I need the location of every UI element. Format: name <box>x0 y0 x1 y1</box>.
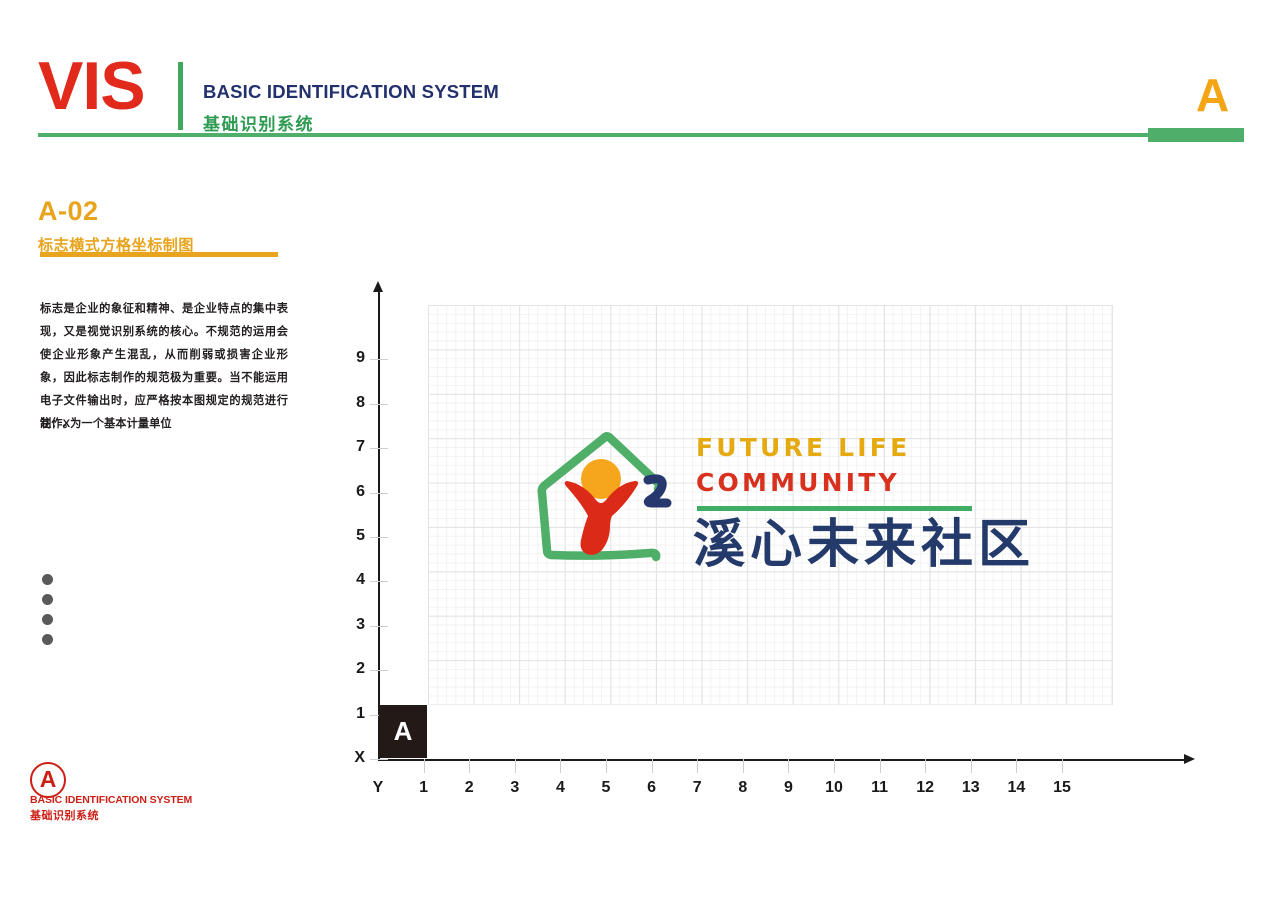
x-tick-label: 5 <box>586 779 626 797</box>
x-tick-label: Y <box>358 779 398 797</box>
y-tick-label: 9 <box>339 349 365 367</box>
y-tick-mark <box>370 404 388 405</box>
dot <box>42 634 53 645</box>
footer-title-cn: 基础识别系统 <box>30 807 99 823</box>
x-tick-label: 14 <box>996 779 1036 797</box>
x-tick-mark <box>606 759 607 773</box>
section-note-text: 注：X为一个基本计量单位 <box>40 415 288 431</box>
y-axis-arrow-icon <box>373 281 383 292</box>
y-tick-label: 3 <box>339 616 365 634</box>
x-tick-mark <box>1016 759 1017 773</box>
y-tick-mark <box>370 759 388 760</box>
footer-badge-letter: A <box>32 764 64 795</box>
y-tick-label: 2 <box>339 660 365 678</box>
y-tick-mark <box>370 670 388 671</box>
y-tick-mark <box>370 626 388 627</box>
x-tick-mark <box>880 759 881 773</box>
logo-divider-rule <box>697 506 972 511</box>
y-tick-label: 6 <box>339 483 365 501</box>
y-tick-label: 5 <box>339 527 365 545</box>
logo-tagline-line2: COMMUNITY <box>696 468 900 497</box>
y-tick-mark <box>370 537 388 538</box>
x-axis-arrow-icon <box>1184 754 1195 764</box>
x-tick-label: 11 <box>860 779 900 797</box>
y-tick-mark <box>370 581 388 582</box>
x-tick-mark <box>834 759 835 773</box>
header-title-cn: 基础识别系统 <box>203 110 314 135</box>
y-tick-label: 4 <box>339 571 365 589</box>
y-tick-mark <box>370 359 388 360</box>
dot <box>42 614 53 625</box>
footer-title-en: BASIC IDENTIFICATION SYSTEM <box>30 794 192 806</box>
section-underline <box>40 252 278 257</box>
dot <box>42 574 53 585</box>
x-tick-label: 7 <box>677 779 717 797</box>
x-tick-mark <box>1062 759 1063 773</box>
x-tick-mark <box>560 759 561 773</box>
x-tick-label: 4 <box>540 779 580 797</box>
x-tick-label: 10 <box>814 779 854 797</box>
dot <box>42 594 53 605</box>
x-tick-mark <box>515 759 516 773</box>
x-tick-label: 15 <box>1042 779 1082 797</box>
x-tick-label: 2 <box>449 779 489 797</box>
x-tick-label: 1 <box>404 779 444 797</box>
house-base-path <box>552 553 656 557</box>
header-divider <box>178 62 183 130</box>
x-axis-line <box>378 759 1186 761</box>
x-tick-mark <box>743 759 744 773</box>
x-tick-label: 3 <box>495 779 535 797</box>
logo-symbol-svg <box>536 424 686 574</box>
x-tick-mark <box>925 759 926 773</box>
y-tick-label: X <box>339 749 365 767</box>
x-tick-mark <box>652 759 653 773</box>
header-rule <box>38 133 1244 137</box>
x-tick-mark <box>469 759 470 773</box>
logo-symbol-mark <box>536 424 686 574</box>
y-tick-mark <box>370 493 388 494</box>
section-letter-badge: A <box>1196 72 1229 118</box>
x-tick-mark <box>697 759 698 773</box>
vis-spec-page: VIS BASIC IDENTIFICATION SYSTEM 基础识别系统 A… <box>0 0 1280 905</box>
x-tick-label: 9 <box>768 779 808 797</box>
unit-cell-letter: A <box>379 705 427 758</box>
logo-lockup: FUTURE LIFE COMMUNITY 溪心未来社区 <box>536 424 1064 576</box>
x-tick-label: 12 <box>905 779 945 797</box>
x-tick-label: 8 <box>723 779 763 797</box>
x-tick-mark <box>971 759 972 773</box>
y-tick-label: 1 <box>339 705 365 723</box>
section-code: A-02 <box>38 196 99 227</box>
brand-wordmark: VIS <box>38 52 145 120</box>
decorative-dots <box>42 574 53 654</box>
unit-cell-marker: A <box>379 705 427 758</box>
x-tick-label: 6 <box>632 779 672 797</box>
x-tick-mark <box>424 759 425 773</box>
x-tick-mark <box>788 759 789 773</box>
x-tick-label: 13 <box>951 779 991 797</box>
y-tick-mark <box>370 448 388 449</box>
swoosh-icon <box>648 479 667 503</box>
logo-tagline-line1: FUTURE LIFE <box>696 433 910 462</box>
logo-chinese-wordmark: 溪心未来社区 <box>693 516 1035 574</box>
header-title-en: BASIC IDENTIFICATION SYSTEM <box>203 81 499 103</box>
footer-badge-icon: A <box>30 762 66 798</box>
y-tick-label: 7 <box>339 438 365 456</box>
y-tick-label: 8 <box>339 394 365 412</box>
header-rule-accent <box>1148 128 1244 142</box>
